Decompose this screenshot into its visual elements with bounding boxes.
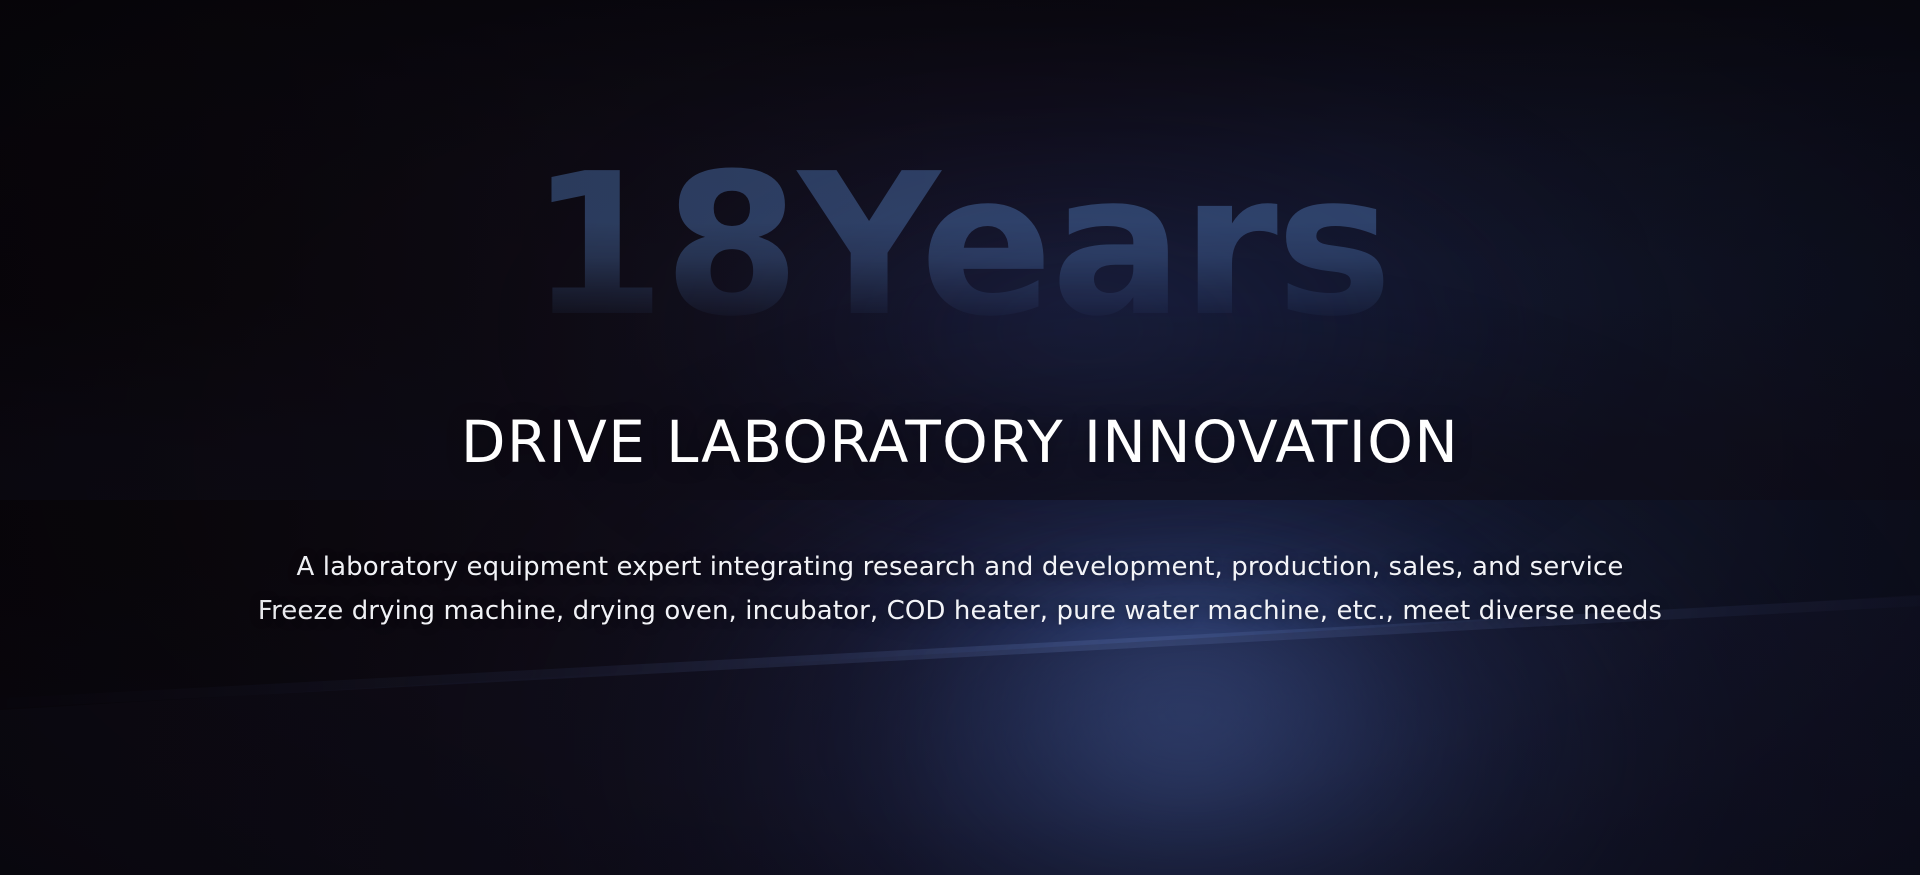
hero-banner: 18Years DRIVE LABORATORY INNOVATION A la… <box>0 0 1920 875</box>
hero-subtitle-line-2: Freeze drying machine, drying oven, incu… <box>0 589 1920 633</box>
hero-subtitle-block: A laboratory equipment expert integratin… <box>0 545 1920 633</box>
hero-content: DRIVE LABORATORY INNOVATION A laboratory… <box>0 0 1920 875</box>
hero-subtitle-line-1: A laboratory equipment expert integratin… <box>0 545 1920 589</box>
hero-headline: DRIVE LABORATORY INNOVATION <box>0 408 1920 476</box>
